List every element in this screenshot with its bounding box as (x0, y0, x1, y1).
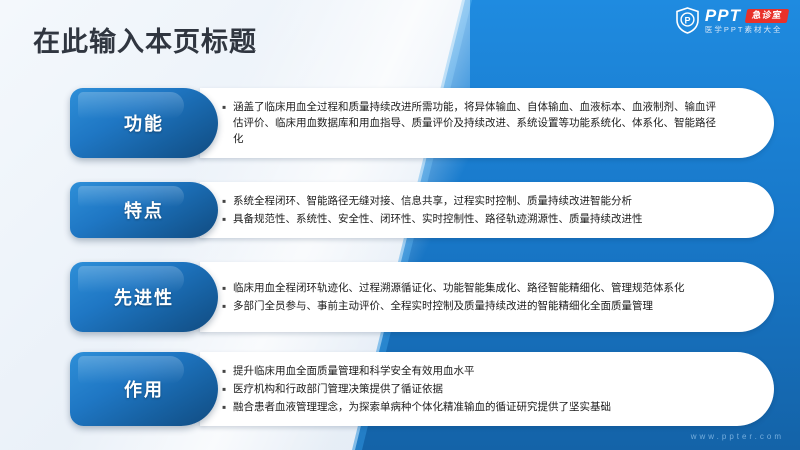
list-item-text: 多部门全员参与、事前主动评价、全程实时控制及质量持续改进的智能精细化全面质量管理 (233, 298, 722, 314)
bullet-icon: ▪ (222, 298, 233, 314)
bullet-icon: ▪ (222, 280, 233, 296)
content-rows: ▪ 涵盖了临床用血全过程和质量持续改进所需功能，将异体输血、自体输血、血液标本、… (0, 0, 800, 450)
list-item: ▪ 医疗机构和行政部门管理决策提供了循证依据 (222, 381, 722, 397)
bullet-icon: ▪ (222, 211, 233, 227)
row-label-tab-xianjinxing[interactable]: 先进性 (70, 262, 218, 332)
row-label-tab-tedian[interactable]: 特点 (70, 182, 218, 238)
content-card: ▪ 涵盖了临床用血全过程和质量持续改进所需功能，将异体输血、自体输血、血液标本、… (200, 88, 774, 158)
list-item: ▪ 融合患者血液管理理念，为探索单病种个体化精准输血的循证研究提供了坚实基础 (222, 399, 722, 415)
list-item: ▪ 具备规范性、系统性、安全性、闭环性、实时控制性、路径轨迹溯源性、质量持续改进… (222, 211, 722, 227)
row-label-text: 作用 (124, 376, 164, 402)
row-label-text: 先进性 (114, 284, 174, 310)
list-item-text: 涵盖了临床用血全过程和质量持续改进所需功能，将异体输血、自体输血、血液标本、血液… (233, 99, 722, 147)
list-item: ▪ 提升临床用血全面质量管理和科学安全有效用血水平 (222, 363, 722, 379)
list-item: ▪ 涵盖了临床用血全过程和质量持续改进所需功能，将异体输血、自体输血、血液标本、… (222, 99, 722, 147)
row-label-tab-gongneng[interactable]: 功能 (70, 88, 218, 158)
list-item-text: 融合患者血液管理理念，为探索单病种个体化精准输血的循证研究提供了坚实基础 (233, 399, 722, 415)
content-row: ▪ 系统全程闭环、智能路径无缝对接、信息共享，过程实时控制、质量持续改进智能分析… (70, 182, 774, 238)
list-item: ▪ 多部门全员参与、事前主动评价、全程实时控制及质量持续改进的智能精细化全面质量… (222, 298, 722, 314)
bullet-icon: ▪ (222, 363, 233, 379)
list-item-text: 临床用血全程闭环轨迹化、过程溯源循证化、功能智能集成化、路径智能精细化、管理规范… (233, 280, 722, 296)
content-row: ▪ 临床用血全程闭环轨迹化、过程溯源循证化、功能智能集成化、路径智能精细化、管理… (70, 262, 774, 332)
bullet-icon: ▪ (222, 193, 233, 209)
content-card: ▪ 临床用血全程闭环轨迹化、过程溯源循证化、功能智能集成化、路径智能精细化、管理… (200, 262, 774, 332)
list-item-text: 具备规范性、系统性、安全性、闭环性、实时控制性、路径轨迹溯源性、质量持续改进性 (233, 211, 722, 227)
bullet-icon: ▪ (222, 381, 233, 397)
list-item-text: 医疗机构和行政部门管理决策提供了循证依据 (233, 381, 722, 397)
row-label-text: 特点 (124, 197, 164, 223)
list-item: ▪ 临床用血全程闭环轨迹化、过程溯源循证化、功能智能集成化、路径智能精细化、管理… (222, 280, 722, 296)
bullet-icon: ▪ (222, 399, 233, 415)
list-item: ▪ 系统全程闭环、智能路径无缝对接、信息共享，过程实时控制、质量持续改进智能分析 (222, 193, 722, 209)
content-row: ▪ 提升临床用血全面质量管理和科学安全有效用血水平 ▪ 医疗机构和行政部门管理决… (70, 352, 774, 426)
row-label-tab-zuoyong[interactable]: 作用 (70, 352, 218, 426)
content-card: ▪ 系统全程闭环、智能路径无缝对接、信息共享，过程实时控制、质量持续改进智能分析… (200, 182, 774, 238)
slide: 在此输入本页标题 P PPT 急诊室 医学PPT素材大全 ▪ 涵盖了临床用血全过… (0, 0, 800, 450)
row-label-text: 功能 (124, 110, 164, 136)
content-card: ▪ 提升临床用血全面质量管理和科学安全有效用血水平 ▪ 医疗机构和行政部门管理决… (200, 352, 774, 426)
list-item-text: 系统全程闭环、智能路径无缝对接、信息共享，过程实时控制、质量持续改进智能分析 (233, 193, 722, 209)
footer-watermark-url: www.ppter.com (691, 432, 784, 441)
bullet-icon: ▪ (222, 99, 233, 115)
list-item-text: 提升临床用血全面质量管理和科学安全有效用血水平 (233, 363, 722, 379)
content-row: ▪ 涵盖了临床用血全过程和质量持续改进所需功能，将异体输血、自体输血、血液标本、… (70, 88, 774, 158)
